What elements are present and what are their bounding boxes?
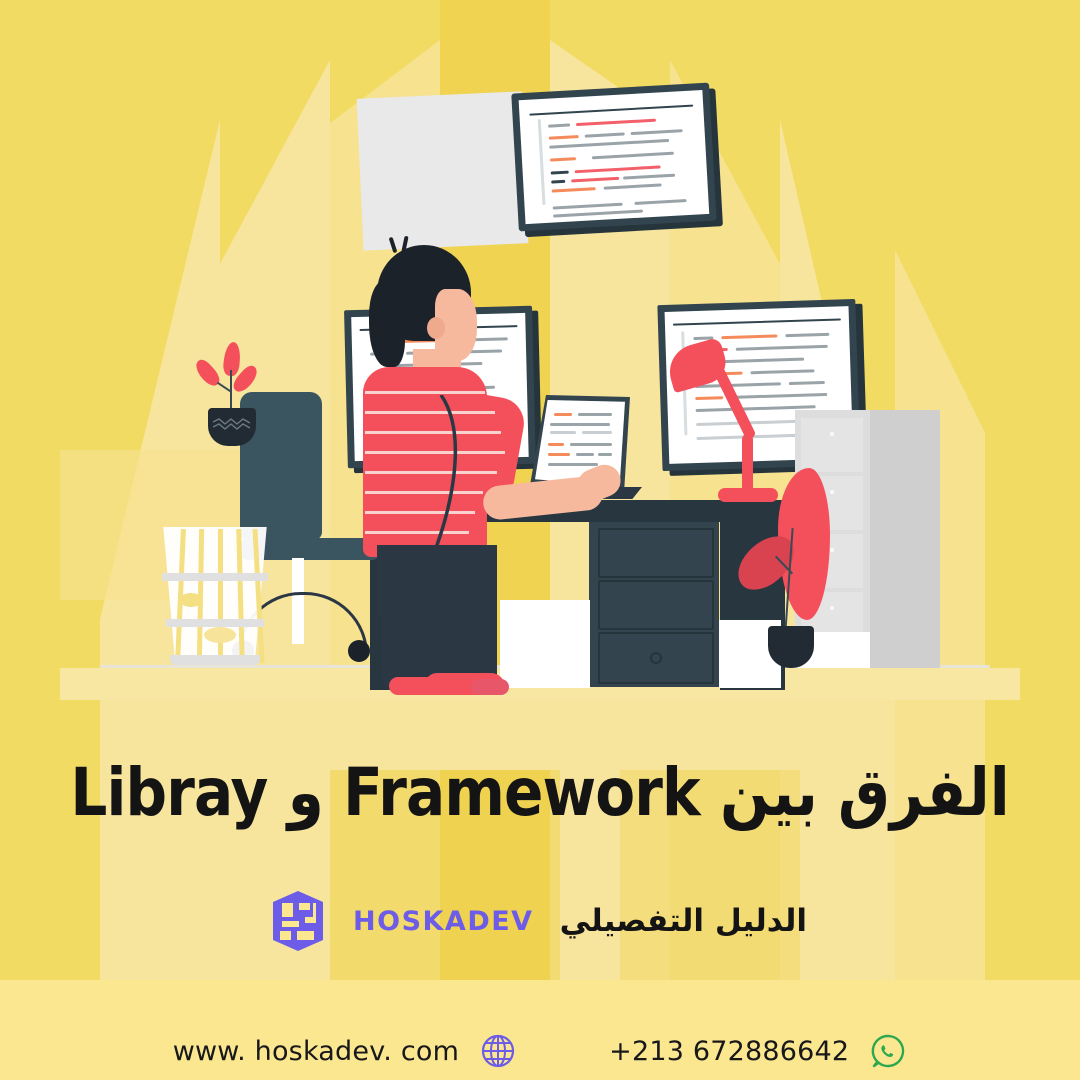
- brand-subtitle: الدليل التفصيلي: [560, 903, 807, 939]
- website-text[interactable]: www. hoskadev. com: [173, 1036, 459, 1067]
- globe-icon: [479, 1032, 517, 1070]
- desk-drawer-divider-1: [598, 528, 714, 578]
- floating-monitor-code: [511, 83, 719, 234]
- floor-plant: [732, 468, 862, 668]
- pot-pattern-icon: [212, 418, 252, 430]
- whatsapp-icon: [869, 1032, 907, 1070]
- wire-trash-bin: [160, 527, 270, 667]
- developer-person: [285, 245, 585, 695]
- footer-bar: www. hoskadev. com +213 672886642: [0, 1022, 1080, 1080]
- phone-text[interactable]: +213 672886642: [609, 1036, 849, 1067]
- developer-at-desk-illustration: [60, 40, 1020, 700]
- desk-plant: [188, 340, 268, 450]
- wall-poster-blank: [357, 91, 529, 250]
- desk-drawer-divider-2: [598, 580, 714, 630]
- hoskadev-h-monogram-icon: [269, 890, 327, 952]
- brand-name: HOSKADEV: [353, 906, 534, 937]
- desk-drawer-handle: [650, 652, 662, 664]
- brand-row: HOSKADEV الدليل التفصيلي: [0, 890, 1080, 952]
- page-title: الفرق بين Framework و Libray: [65, 752, 1015, 834]
- poster-canvas: الفرق بين Framework و Libray HOSKADEV ال…: [0, 0, 1080, 1080]
